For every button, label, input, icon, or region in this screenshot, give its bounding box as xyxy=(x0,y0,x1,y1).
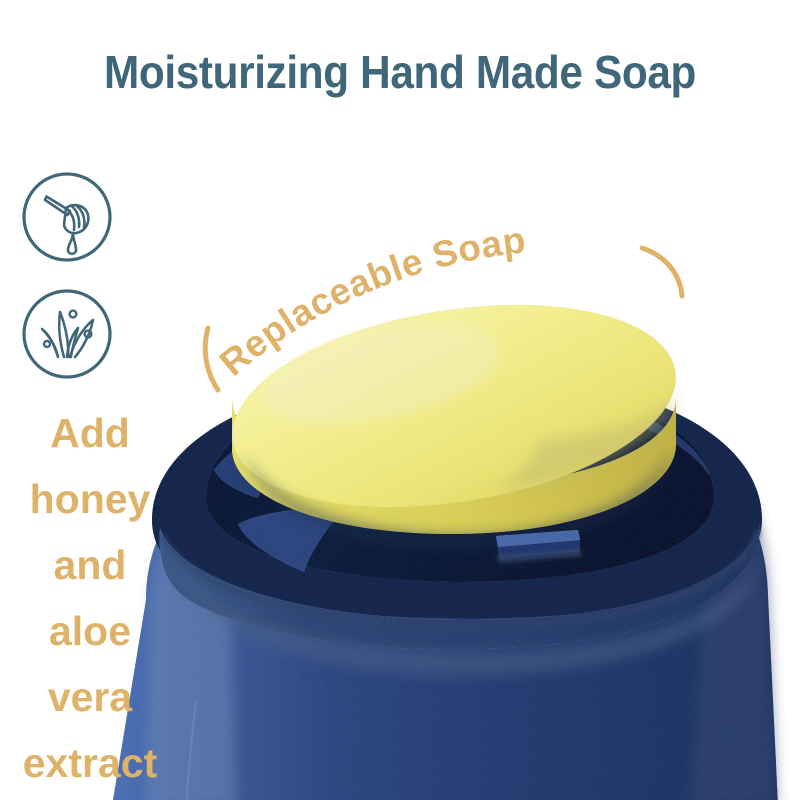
product-marketing-image: Moisturizing Hand Made Soap xyxy=(0,0,800,800)
product-illustration xyxy=(0,0,800,800)
soap-bar-group xyxy=(218,276,691,548)
